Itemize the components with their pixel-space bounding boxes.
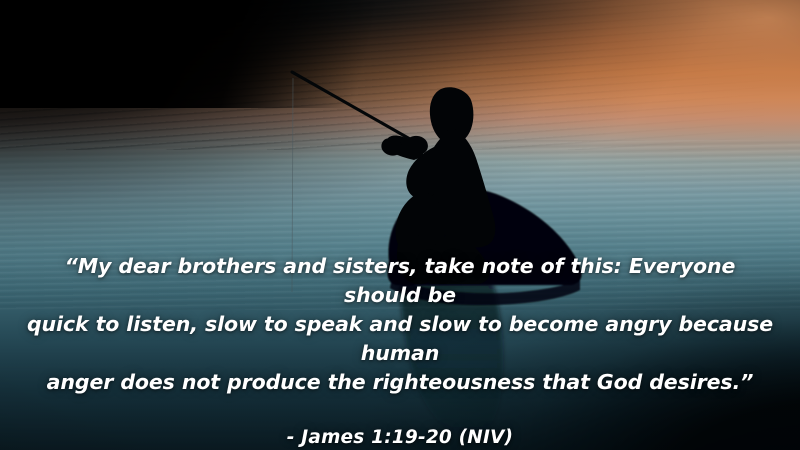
verse-image-card: “My dear brothers and sisters, take note…: [0, 0, 800, 450]
verse-quote-line-1: “My dear brothers and sisters, take note…: [24, 252, 776, 310]
verse-caption: “My dear brothers and sisters, take note…: [0, 252, 800, 448]
verse-attribution: - James 1:19-20 (NIV): [24, 397, 776, 448]
verse-quote: “My dear brothers and sisters, take note…: [24, 252, 776, 397]
verse-quote-line-3: anger does not produce the righteousness…: [24, 368, 776, 397]
verse-quote-line-2: quick to listen, slow to speak and slow …: [24, 310, 776, 368]
